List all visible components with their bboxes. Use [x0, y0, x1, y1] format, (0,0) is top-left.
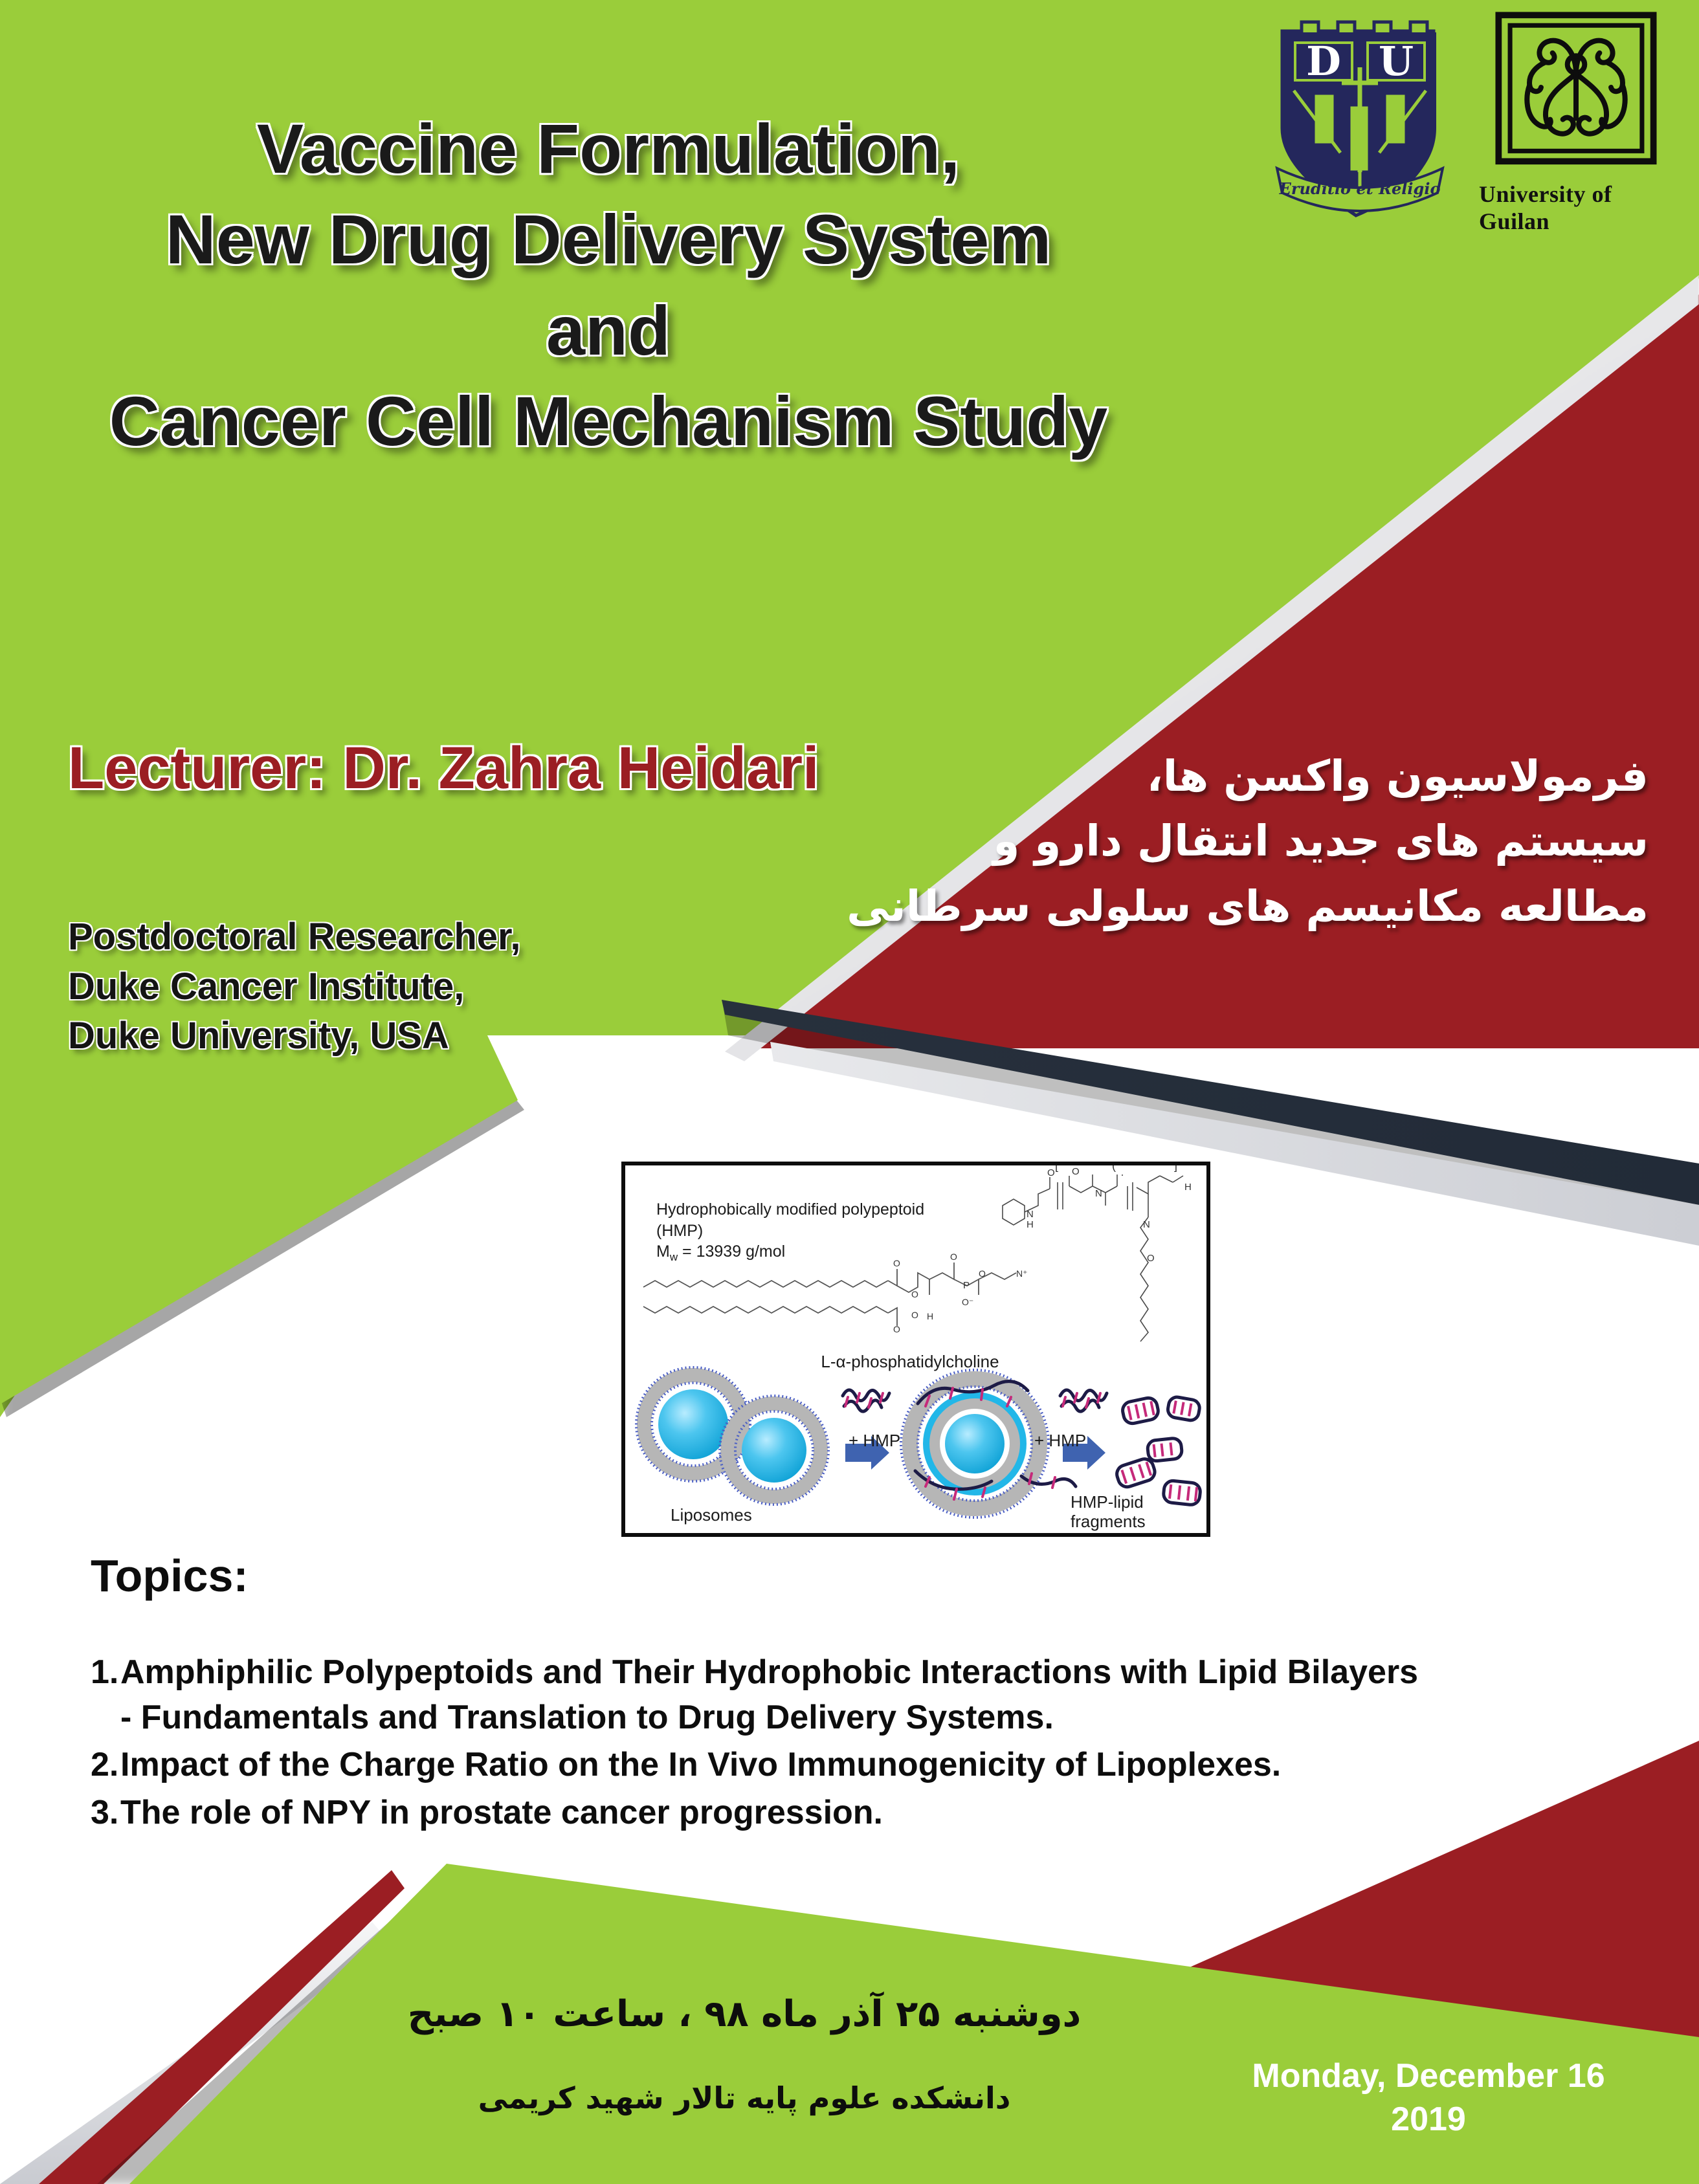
affiliation-line-1: Postdoctoral Researcher, [68, 912, 521, 962]
guilan-logo: University of Guilan [1479, 12, 1673, 235]
svg-text:H: H [1027, 1219, 1034, 1230]
svg-text:O: O [950, 1252, 957, 1262]
svg-text:N⁺: N⁺ [1016, 1268, 1028, 1279]
persian-title: فرمولاسیون واکسن ها، سیستم های جدید انتق… [872, 744, 1649, 939]
figure-mw: Mw = 13939 g/mol [656, 1241, 924, 1264]
topic-item-1: 1. Amphiphilic Polypeptoids and Their Hy… [91, 1650, 1424, 1740]
topic-text-2: Impact of the Charge Ratio on the In Viv… [120, 1743, 1424, 1788]
poster-title: Vaccine Formulation, New Drug Delivery S… [0, 104, 1217, 467]
svg-text:[: [ [1055, 1165, 1058, 1172]
english-date-line-2: 2019 [1234, 2098, 1623, 2141]
topics-heading: Topics: [91, 1550, 249, 1602]
topics-list: 1. Amphiphilic Polypeptoids and Their Hy… [91, 1650, 1424, 1838]
figure-fragments-label: HMP-lipid fragments [1071, 1492, 1146, 1531]
english-event-date: Monday, December 16 2019 [1234, 2055, 1623, 2141]
duke-motto: Eruditio et Religio [1279, 179, 1441, 198]
topic-text-3: The role of NPY in prostate cancer progr… [120, 1791, 1424, 1836]
lecturer-affiliation: Postdoctoral Researcher, Duke Cancer Ins… [68, 912, 521, 1061]
svg-text:(: ( [1112, 1165, 1116, 1172]
svg-text:O: O [1147, 1253, 1155, 1264]
figure-liposomes-label: Liposomes [671, 1505, 752, 1525]
seminar-poster: D U Eruditio et Religio [0, 0, 1699, 2184]
svg-text:O: O [893, 1324, 900, 1334]
persian-title-line-3: مطالعه مکانیسم های سلولی سرطانی [872, 874, 1649, 939]
figure-hmp-caption: Hydrophobically modified polypeptoid (HM… [656, 1199, 924, 1264]
figure-hmp-line-2: (HMP) [656, 1220, 924, 1242]
topic-number-2: 2. [91, 1743, 120, 1788]
scientific-figure: O O N N O N H H [ ( ] O O O [621, 1162, 1210, 1537]
persian-event-venue: دانشکده علوم پایه تالار شهید کریمی [324, 2080, 1165, 2115]
svg-text:O: O [911, 1310, 918, 1320]
title-line-4: Cancer Cell Mechanism Study [0, 376, 1217, 467]
persian-title-line-2: سیستم های جدید انتقال دارو و [872, 809, 1649, 874]
svg-text:D: D [1306, 38, 1341, 85]
topic-number-3: 3. [91, 1791, 120, 1836]
english-date-line-1: Monday, December 16 [1234, 2055, 1623, 2098]
svg-text:U: U [1379, 38, 1414, 85]
svg-text:H: H [927, 1311, 933, 1321]
topic-item-2: 2. Impact of the Charge Ratio on the In … [91, 1743, 1424, 1788]
svg-text:]: ] [1174, 1165, 1177, 1172]
svg-text:O: O [1047, 1167, 1055, 1178]
topic-text-1: Amphiphilic Polypeptoids and Their Hydro… [120, 1650, 1424, 1740]
svg-text:O: O [979, 1268, 986, 1279]
topic-item-3: 3. The role of NPY in prostate cancer pr… [91, 1791, 1424, 1836]
figure-fragments-line-1: HMP-lipid [1071, 1492, 1146, 1512]
figure-arrow-label-1: + HMP [849, 1431, 900, 1451]
title-line-2: New Drug Delivery System [0, 194, 1217, 285]
affiliation-line-2: Duke Cancer Institute, [68, 962, 521, 1012]
topic-number-1: 1. [91, 1650, 120, 1740]
svg-text:N: N [1095, 1188, 1102, 1199]
svg-text:O⁻: O⁻ [962, 1297, 973, 1307]
svg-text:N: N [1027, 1209, 1034, 1220]
svg-text:N: N [1143, 1219, 1150, 1230]
duke-shield-icon: D U Eruditio et Religio [1269, 12, 1450, 228]
guilan-logo-caption: University of Guilan [1479, 181, 1673, 235]
figure-lipid-name: L-α-phosphatidylcholine [742, 1352, 1078, 1372]
persian-event-date: دوشنبه ۲۵ آذر ماه ۹۸ ، ساعت ۱۰ صبح [324, 1993, 1165, 2035]
svg-text:H: H [1184, 1182, 1192, 1193]
svg-text:O: O [911, 1289, 918, 1299]
figure-hmp-line-1: Hydrophobically modified polypeptoid [656, 1199, 924, 1220]
logo-row: D U Eruditio et Religio [1269, 12, 1673, 235]
lecturer-name: Lecturer: Dr. Zahra Heidari [68, 734, 819, 802]
svg-text:O: O [1072, 1166, 1080, 1177]
figure-fragments-line-2: fragments [1071, 1512, 1146, 1531]
persian-title-line-1: فرمولاسیون واکسن ها، [872, 744, 1649, 809]
guilan-emblem-icon [1482, 12, 1670, 178]
title-line-1: Vaccine Formulation, [0, 104, 1217, 194]
affiliation-line-3: Duke University, USA [68, 1011, 521, 1061]
title-line-3: and [0, 285, 1217, 376]
figure-arrow-label-2: + HMP [1034, 1431, 1086, 1451]
svg-text:P: P [963, 1280, 970, 1291]
